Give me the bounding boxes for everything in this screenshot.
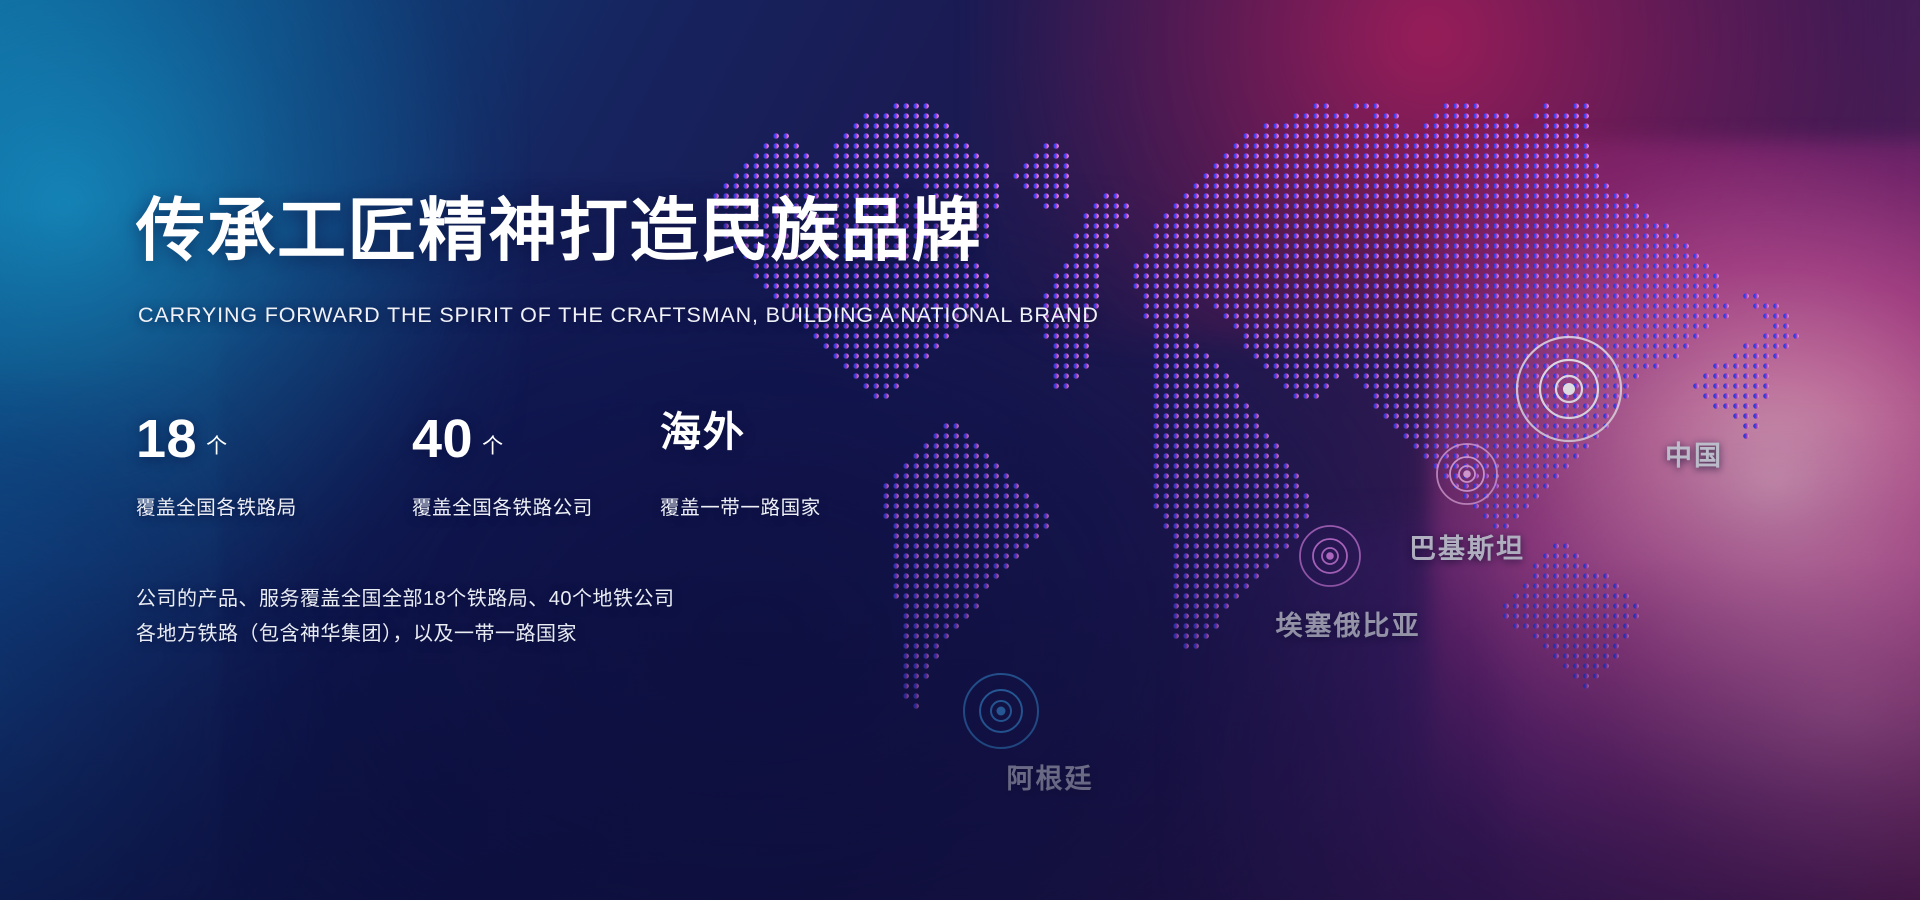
stat-value: 18 <box>136 412 197 466</box>
stat-item: 海外覆盖一带一路国家 <box>660 412 900 520</box>
body-paragraph-line: 公司的产品、服务覆盖全国全部18个铁路局、40个地铁公司 <box>136 582 675 617</box>
stat-value: 海外 <box>660 412 746 453</box>
banner-stage: 中国巴基斯坦埃塞俄比亚阿根廷 传承工匠精神打造民族品牌 CARRYING FOR… <box>0 0 1920 900</box>
page-title: 传承工匠精神打造民族品牌 <box>136 196 982 265</box>
stat-item: 18个覆盖全国各铁路局 <box>136 412 412 520</box>
stat-description: 覆盖一带一路国家 <box>660 491 900 520</box>
stat-value: 40 <box>412 412 473 466</box>
stat-value-row: 40个 <box>412 412 660 474</box>
stat-description: 覆盖全国各铁路公司 <box>412 491 660 520</box>
stat-unit: 个 <box>206 430 227 460</box>
stat-description: 覆盖全国各铁路局 <box>136 491 412 520</box>
stat-item: 40个覆盖全国各铁路公司 <box>412 412 660 520</box>
banner-content: 传承工匠精神打造民族品牌 CARRYING FORWARD THE SPIRIT… <box>136 0 1016 900</box>
stats-row: 18个覆盖全国各铁路局40个覆盖全国各铁路公司海外覆盖一带一路国家 <box>136 412 900 520</box>
body-paragraph: 公司的产品、服务覆盖全国全部18个铁路局、40个地铁公司各地方铁路（包含神华集团… <box>136 582 675 652</box>
stat-value-row: 海外 <box>660 412 900 474</box>
stat-unit: 个 <box>482 430 503 460</box>
stat-value-row: 18个 <box>136 412 412 474</box>
body-paragraph-line: 各地方铁路（包含神华集团），以及一带一路国家 <box>136 617 675 652</box>
page-subtitle: CARRYING FORWARD THE SPIRIT OF THE CRAFT… <box>138 303 1099 328</box>
